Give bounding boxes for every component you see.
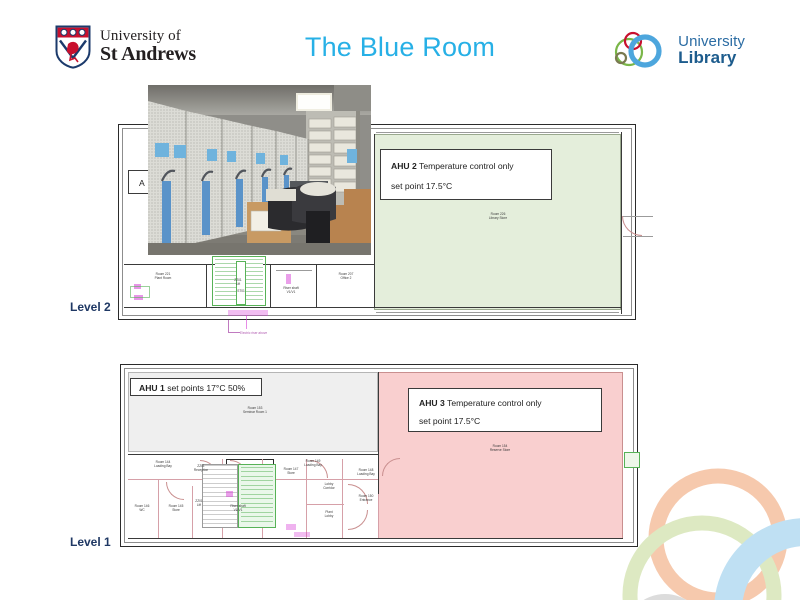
library-circles-logo-icon bbox=[609, 28, 671, 72]
library-wordmark: University Library bbox=[678, 34, 745, 66]
level-2-label: Level 2 bbox=[70, 300, 111, 314]
level-1-floorplan: Room 153Seminar Room 1 Room 154Reserve S… bbox=[120, 364, 638, 547]
room-label-146: Room 146WC bbox=[126, 504, 158, 513]
callout-ahu2-line2: set point 17.5°C bbox=[391, 181, 452, 192]
slide-canvas: University of St Andrews The Blue Room U… bbox=[0, 0, 800, 600]
room-label-207: Room 207Office 2 bbox=[316, 272, 376, 281]
room-label-lobby: LobbyCorridor bbox=[310, 482, 348, 491]
callout-ahu3-line1: Temperature control only bbox=[447, 398, 542, 408]
library-line-1: University bbox=[678, 34, 745, 49]
callout-ahu2-id: AHU 2 bbox=[391, 161, 417, 171]
room-label-riser-shaft: Riser shaftV1/V1 bbox=[218, 504, 258, 513]
room-label-zz01-lift: ZZ01Lift bbox=[218, 278, 258, 287]
library-line-2: Library bbox=[678, 49, 745, 66]
room-label-221: Room 221Plant Room bbox=[128, 272, 198, 281]
room-label-reception: ZZ01Reception bbox=[180, 464, 222, 473]
callout-ahu3-line2: set point 17.5°C bbox=[419, 416, 480, 427]
level2-annotation: Electric riser above bbox=[240, 331, 267, 335]
callout-ahu1-text: set points 17°C 50% bbox=[167, 383, 245, 393]
callout-ahu1: AHU 1 set points 17°C 50% bbox=[130, 378, 262, 396]
room-label-145: Room 145Store bbox=[160, 504, 192, 513]
room-label-149: Room 149Loading Bay bbox=[292, 459, 334, 468]
level-1-label: Level 1 bbox=[70, 535, 111, 549]
stair-level-1 bbox=[238, 464, 276, 528]
room-label-st01: ST01 bbox=[221, 289, 261, 293]
callout-ahu2: AHU 2 Temperature control only set point… bbox=[380, 149, 552, 200]
exit-door-marker bbox=[624, 452, 640, 468]
callout-ahu3: AHU 3 Temperature control only set point… bbox=[408, 388, 602, 432]
callout-ahu2-line1: Temperature control only bbox=[419, 161, 514, 171]
callout-ahu3-id: AHU 3 bbox=[419, 398, 445, 408]
room-label-150: Room 150Entrance bbox=[346, 494, 386, 503]
room-label-148: Room 148Loading Bay bbox=[346, 468, 386, 477]
room-label-153: Room 153Seminar Room 1 bbox=[205, 406, 305, 415]
university-library-logo: University Library bbox=[609, 28, 745, 72]
room-label-plant-lobby: PlantLobby bbox=[310, 510, 348, 519]
callout-ahu1-id: AHU 1 bbox=[139, 383, 165, 393]
library-store-mobile-shelving-photo bbox=[148, 85, 371, 255]
background-watermark-circles bbox=[610, 420, 800, 600]
room-label-riser-shaft: Riser shaftV1/V1 bbox=[268, 286, 314, 295]
room-label-147: Room 147Store bbox=[272, 467, 310, 476]
room-label-154: Room 154Reserve Store bbox=[445, 444, 555, 453]
room-label-226: Room 226Library Store bbox=[443, 212, 553, 221]
